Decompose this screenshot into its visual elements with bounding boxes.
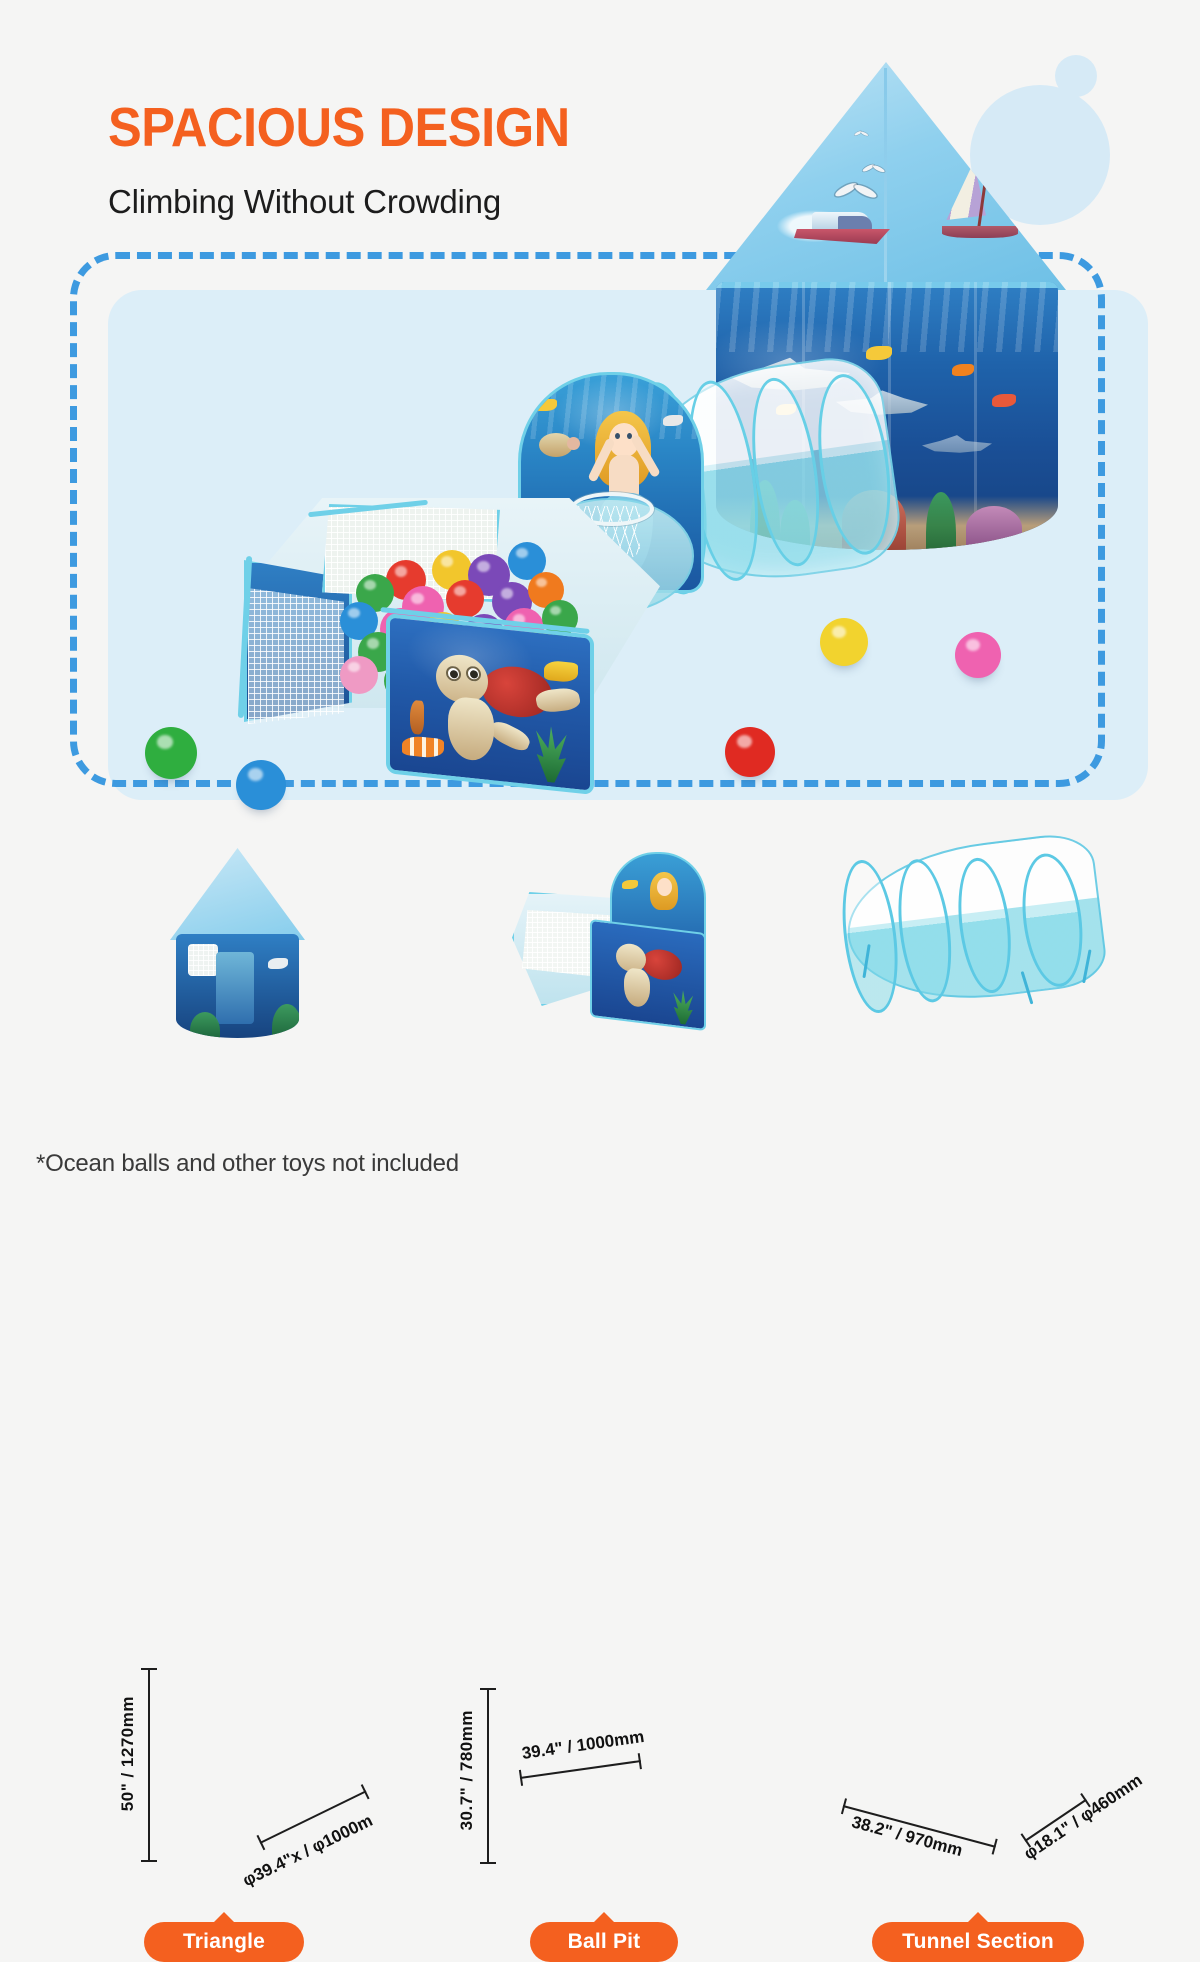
pink-ball bbox=[955, 632, 1001, 678]
badge-triangle-label: Triangle bbox=[183, 1930, 265, 1954]
green-ball bbox=[145, 727, 197, 779]
ballpit-width-label: 39.4" / 1000mm bbox=[521, 1727, 646, 1764]
infographic-stage: SPACIOUS DESIGN Climbing Without Crowdin… bbox=[0, 0, 1200, 1200]
ball-pit-thumbnail bbox=[512, 852, 702, 1024]
tent-roof bbox=[706, 62, 1066, 290]
sailboat-hull bbox=[942, 226, 1018, 238]
shark-graphic bbox=[922, 432, 992, 458]
turtle-graphic bbox=[539, 433, 573, 457]
tunnel-thumbnail bbox=[839, 828, 1123, 1029]
triangle-height-dimension-line bbox=[148, 1668, 150, 1862]
blue-ball bbox=[236, 760, 286, 810]
badge-ball-pit[interactable]: Ball Pit bbox=[530, 1922, 678, 1962]
tunnel-length-label: 38.2" / 970mm bbox=[849, 1812, 964, 1861]
triangle-tent-thumbnail bbox=[170, 848, 305, 1038]
badge-pointer-icon bbox=[967, 1912, 989, 1923]
triangle-diameter-label: φ39.4"x / φ1000m bbox=[240, 1811, 376, 1891]
sailboat-flag bbox=[974, 154, 994, 164]
hero-product-scene bbox=[0, 0, 1200, 830]
dimension-thumbnails: 50" / 1270mm φ39.4"x / φ1000m 30.7" / 78… bbox=[0, 830, 1200, 1130]
seaweed-graphic bbox=[534, 725, 568, 785]
fish-graphic bbox=[544, 660, 578, 684]
fish-graphic bbox=[952, 364, 974, 376]
triangle-height-label: 50" / 1270mm bbox=[118, 1696, 138, 1811]
badge-tunnel-section[interactable]: Tunnel Section bbox=[872, 1922, 1084, 1962]
badge-pointer-icon bbox=[593, 1912, 615, 1923]
ballpit-height-dimension-line bbox=[487, 1688, 489, 1864]
yellow-ball bbox=[820, 618, 868, 666]
ball-pit-mesh-window bbox=[248, 588, 344, 724]
red-ball bbox=[725, 727, 775, 777]
fish-graphic bbox=[992, 394, 1016, 407]
ballpit-height-label: 30.7" / 780mm bbox=[457, 1710, 477, 1830]
coral-graphic bbox=[966, 506, 1022, 550]
ball-pit-turtle-panel bbox=[386, 613, 594, 795]
seahorse-graphic bbox=[410, 700, 424, 735]
badge-pointer-icon bbox=[213, 1912, 235, 1923]
motorboat-graphic bbox=[794, 212, 890, 246]
tunnel-diameter-label: φ18.1" / φ460mm bbox=[1020, 1770, 1146, 1864]
roof-seam bbox=[884, 68, 887, 290]
ball-pit-illustration bbox=[236, 476, 676, 806]
clownfish-graphic bbox=[402, 735, 444, 759]
pit-ball bbox=[446, 580, 484, 618]
ballpit-width-dimension-line bbox=[520, 1760, 641, 1779]
pit-ball bbox=[340, 656, 378, 694]
badge-triangle[interactable]: Triangle bbox=[144, 1922, 304, 1962]
footnote-text: *Ocean balls and other toys not included bbox=[36, 1150, 459, 1178]
badge-ball-pit-label: Ball Pit bbox=[568, 1930, 641, 1954]
badge-tunnel-label: Tunnel Section bbox=[902, 1930, 1054, 1954]
